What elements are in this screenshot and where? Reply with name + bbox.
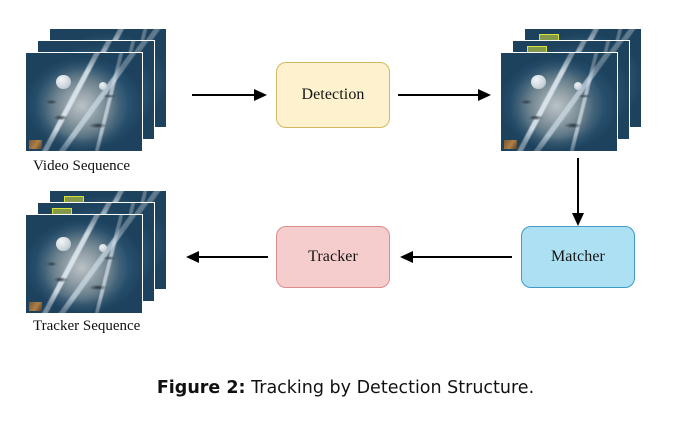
endoscopic-photo <box>26 215 142 313</box>
video-sequence-frame-front <box>25 52 143 152</box>
arrow-video-to-detection <box>192 85 267 105</box>
endoscopic-photo <box>501 53 617 151</box>
arrow-shaft <box>197 256 268 259</box>
tracker-sequence-frame-front <box>25 214 143 314</box>
figure-container: Video Sequence Detection <box>0 0 691 433</box>
figure-caption-text: Tracking by Detection Structure. <box>251 378 534 398</box>
arrow-shaft <box>411 256 512 259</box>
endoscopic-photo <box>26 53 142 151</box>
tracker-sequence-label: Tracker Sequence <box>33 318 140 335</box>
photo-speck <box>29 302 42 311</box>
tracker-sequence-stack <box>25 190 167 314</box>
arrow-detection-to-detected <box>398 85 491 105</box>
photo-speck <box>29 140 42 149</box>
node-detection[interactable]: Detection <box>276 62 390 128</box>
arrow-shaft <box>192 94 256 97</box>
detected-sequence-frame-front <box>500 52 618 152</box>
node-matcher-label: Matcher <box>551 248 605 266</box>
arrow-detected-to-matcher <box>568 158 588 226</box>
node-detection-label: Detection <box>301 86 364 104</box>
arrow-head-down-icon <box>572 213 584 226</box>
arrow-head-left-icon <box>186 251 199 263</box>
arrow-head-right-icon <box>254 89 267 101</box>
video-sequence-label: Video Sequence <box>33 158 130 175</box>
arrow-tracker-to-sequence <box>186 247 268 267</box>
arrow-head-left-icon <box>400 251 413 263</box>
figure-caption: Figure 2: Tracking by Detection Structur… <box>0 378 691 398</box>
detected-sequence-stack <box>500 28 642 152</box>
arrow-shaft <box>577 158 580 215</box>
tracking-by-detection-diagram: Video Sequence Detection <box>0 0 691 360</box>
arrow-matcher-to-tracker <box>400 247 512 267</box>
video-sequence-stack <box>25 28 167 152</box>
arrow-head-right-icon <box>478 89 491 101</box>
node-matcher[interactable]: Matcher <box>521 226 635 288</box>
arrow-shaft <box>398 94 480 97</box>
node-tracker-label: Tracker <box>308 248 358 266</box>
figure-caption-label: Figure 2: <box>157 378 246 398</box>
photo-speck <box>504 140 517 149</box>
node-tracker[interactable]: Tracker <box>276 226 390 288</box>
